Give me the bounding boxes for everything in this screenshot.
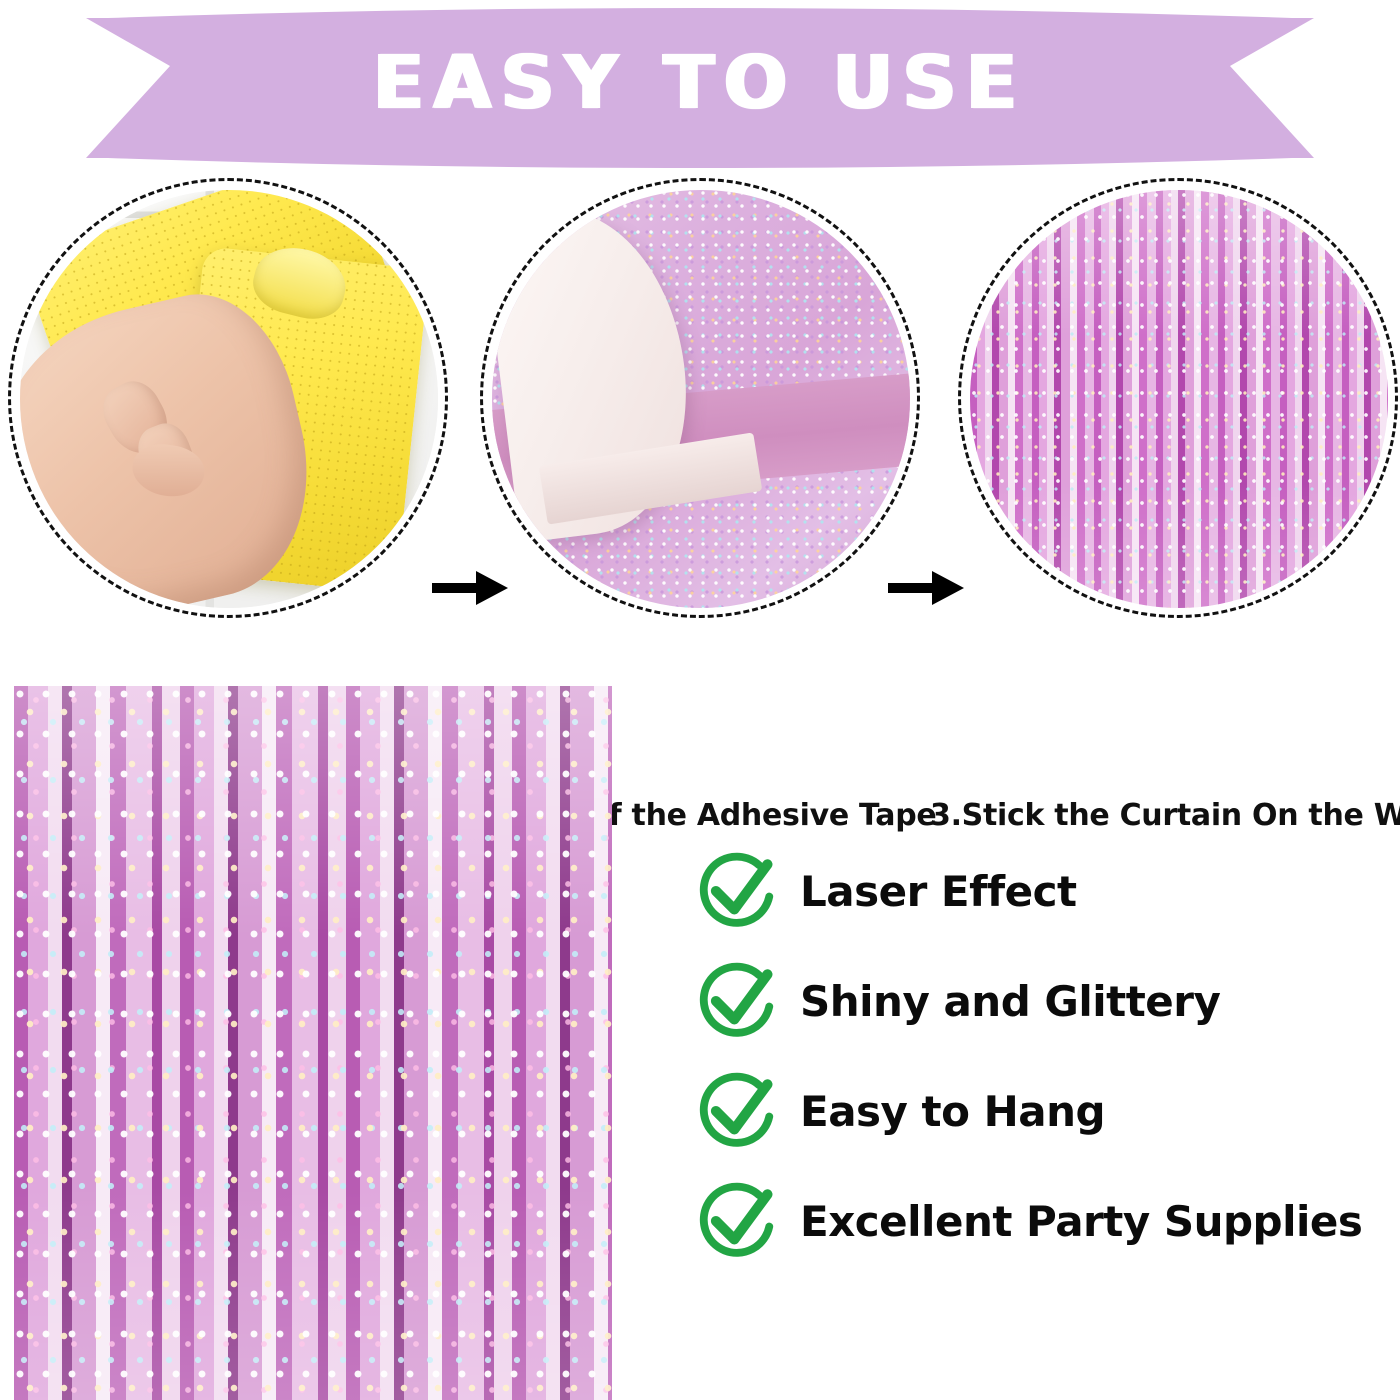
steps-section: 1.Clean and Dry the Wall 2.Peel off the … [0, 178, 1400, 678]
arrow-right-icon-1 [432, 569, 508, 607]
product-photo [14, 686, 612, 1400]
feature-label: Easy to Hang [800, 1087, 1105, 1136]
feature-list: Laser Effect Shiny and Glittery Easy to … [692, 836, 1392, 1276]
feature-item-1: Shiny and Glittery [692, 946, 1392, 1056]
banner: EASY TO USE [0, 0, 1400, 172]
feature-label: Laser Effect [800, 867, 1077, 916]
step-1 [8, 178, 448, 618]
step-3-photo [970, 190, 1388, 608]
arrow-right-icon-2 [888, 569, 964, 607]
feature-item-2: Easy to Hang [692, 1056, 1392, 1166]
step-3 [958, 178, 1398, 618]
feature-label: Shiny and Glittery [800, 977, 1220, 1026]
check-circle-icon [692, 955, 784, 1047]
step-1-dashed-circle [8, 178, 448, 618]
feature-item-0: Laser Effect [692, 836, 1392, 946]
step-2-dashed-circle [480, 178, 920, 618]
banner-title: EASY TO USE [0, 0, 1400, 172]
feature-label: Excellent Party Supplies [800, 1197, 1362, 1246]
check-circle-icon [692, 1065, 784, 1157]
check-circle-icon [692, 1175, 784, 1267]
feature-item-3: Excellent Party Supplies [692, 1166, 1392, 1276]
product-sheen-overlay [14, 686, 612, 1400]
thumb [130, 440, 209, 502]
step-2 [480, 178, 920, 618]
step-3-caption: 3.Stick the Curtain On the Wall [930, 798, 1400, 833]
step-2-photo [492, 190, 910, 608]
step-3-dashed-circle [958, 178, 1398, 618]
infographic-page: EASY TO USE [0, 0, 1400, 1400]
step-1-photo [20, 190, 438, 608]
check-circle-icon [692, 845, 784, 937]
fringe-sheen-overlay [970, 190, 1388, 608]
